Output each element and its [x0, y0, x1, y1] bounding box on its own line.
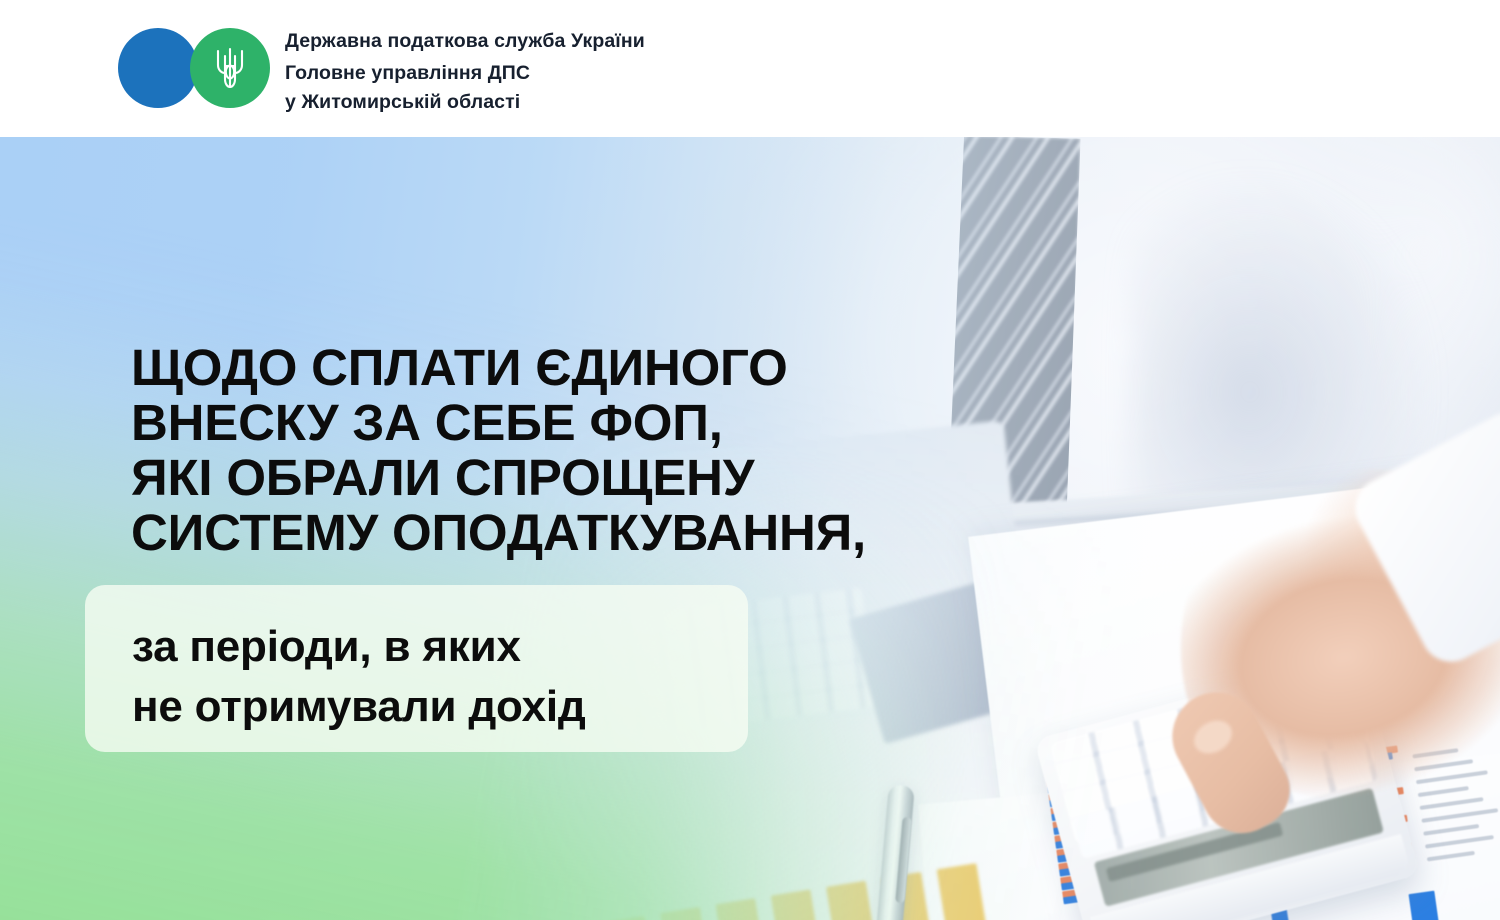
- headline-line-3: ЯКІ ОБРАЛИ СПРОЩЕНУ: [131, 450, 866, 505]
- headline: ЩОДО СПЛАТИ ЄДИНОГО ВНЕСКУ ЗА СЕБЕ ФОП, …: [131, 340, 866, 560]
- agency-name-block: Державна податкова служба України Головн…: [285, 27, 1045, 117]
- agency-name-line-3: у Житомирській області: [285, 88, 1045, 117]
- banner-stage: ЩОДО СПЛАТИ ЄДИНОГО ВНЕСКУ ЗА СЕБЕ ФОП, …: [0, 137, 1500, 920]
- subtitle: за періоди, в яких не отримували дохід: [132, 617, 586, 737]
- ukraine-trident-icon: [190, 28, 270, 108]
- headline-line-2: ВНЕСКУ ЗА СЕБЕ ФОП,: [131, 395, 866, 450]
- agency-logo: [118, 28, 270, 108]
- headline-line-4: СИСТЕМУ ОПОДАТКУВАННЯ,: [131, 505, 866, 560]
- promo-banner: Державна податкова служба України Головн…: [0, 0, 1500, 920]
- agency-name-line-2: Головне управління ДПС: [285, 59, 1045, 88]
- agency-name-line-1: Державна податкова служба України: [285, 27, 1045, 55]
- subtitle-line-2: не отримували дохід: [132, 677, 586, 737]
- subtitle-line-1: за періоди, в яких: [132, 617, 586, 677]
- header-bar: Державна податкова служба України Головн…: [0, 0, 1500, 137]
- headline-line-1: ЩОДО СПЛАТИ ЄДИНОГО: [131, 340, 866, 395]
- subtitle-panel: за періоди, в яких не отримували дохід: [85, 585, 748, 752]
- blue-circle-icon: [118, 28, 198, 108]
